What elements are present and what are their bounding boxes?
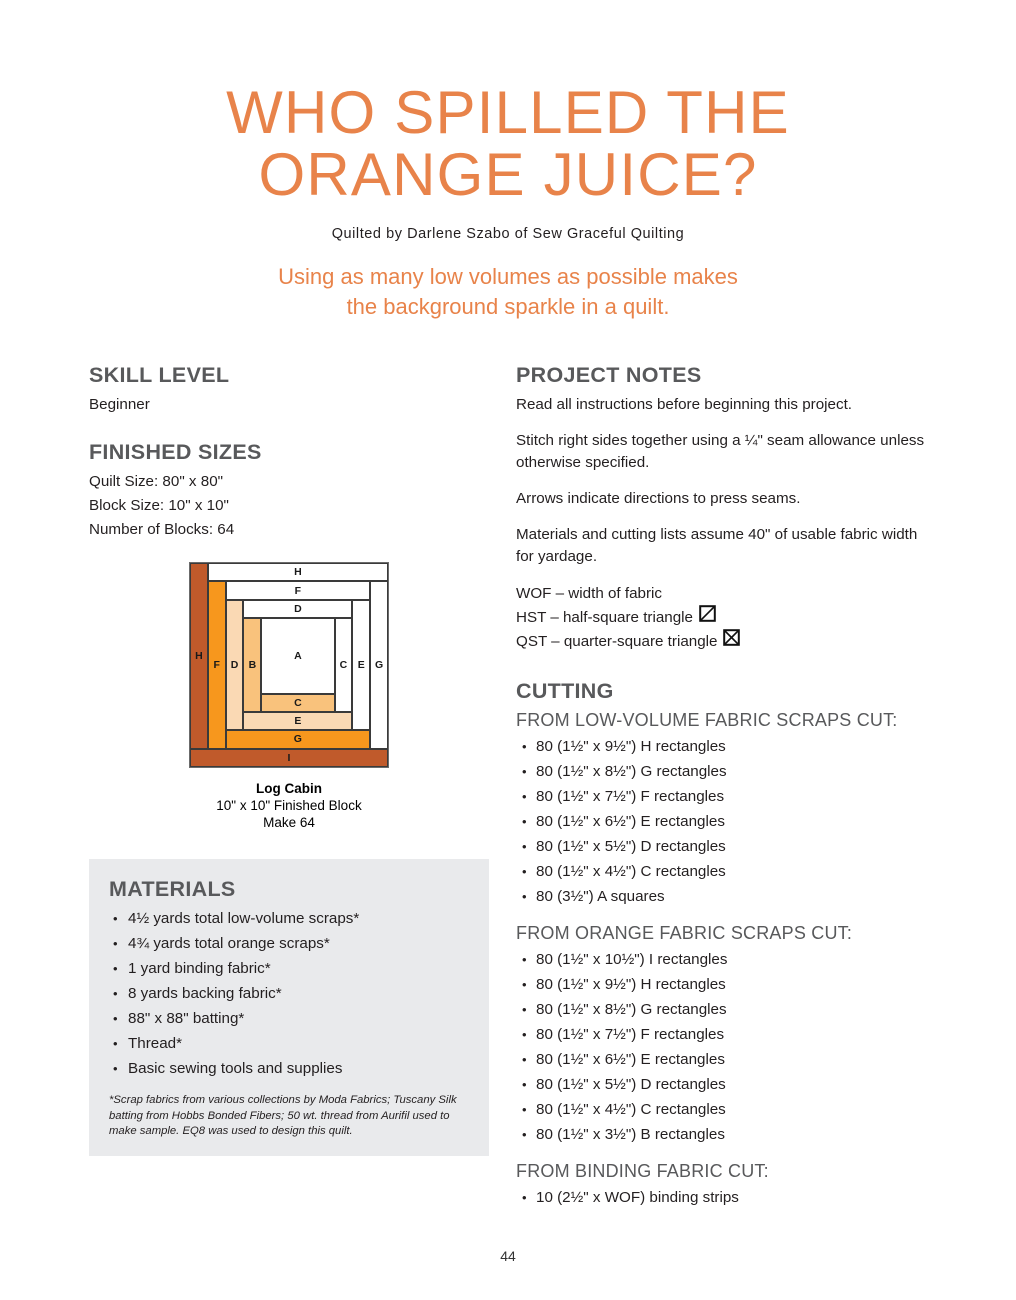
diagram-caption-size: 10" x 10" Finished Block: [89, 797, 489, 814]
project-note-2: Stitch right sides together using a ¼" s…: [516, 430, 934, 474]
block-piece-G: G: [226, 730, 371, 748]
project-notes-heading: PROJECT NOTES: [516, 363, 934, 388]
diagram-caption: Log Cabin 10" x 10" Finished Block Make …: [89, 780, 489, 831]
cutting-group-list: 80 (1½" x 9½") H rectangles80 (1½" x 8½"…: [516, 734, 934, 909]
qst-square-icon: [723, 629, 740, 653]
materials-item: 8 yards backing fabric*: [109, 981, 469, 1006]
skill-level-value: Beginner: [89, 394, 489, 415]
cutting-group-heading: FROM BINDING FABRIC CUT:: [516, 1161, 934, 1182]
block-size: Block Size: 10" x 10": [89, 495, 489, 516]
number-of-blocks: Number of Blocks: 64: [89, 519, 489, 540]
cutting-item: 10 (2½" x WOF) binding strips: [516, 1185, 934, 1210]
page-number: 44: [0, 1248, 1016, 1264]
cutting-item: 80 (1½" x 6½") E rectangles: [516, 809, 934, 834]
materials-item: Thread*: [109, 1031, 469, 1056]
cutting-heading: CUTTING: [516, 679, 934, 704]
block-piece-E: E: [352, 600, 370, 731]
tagline-line-2: the background sparkle in a quilt.: [0, 292, 1016, 322]
block-diagram-wrap: HIFGDEBCAHGFEDC Log Cabin 10" x 10" Fini…: [89, 562, 489, 831]
cutting-item: 80 (1½" x 7½") F rectangles: [516, 784, 934, 809]
abbr-qst-text: QST – quarter-square triangle: [516, 630, 717, 653]
title-line-1: WHO SPILLED THE: [0, 82, 1016, 144]
block-piece-B: B: [243, 618, 261, 712]
cutting-item: 80 (1½" x 8½") G rectangles: [516, 997, 934, 1022]
materials-item: 88" x 88" batting*: [109, 1006, 469, 1031]
cutting-group-list: 80 (1½" x 10½") I rectangles80 (1½" x 9½…: [516, 947, 934, 1147]
block-piece-C: C: [335, 618, 353, 712]
title-block: WHO SPILLED THE ORANGE JUICE? Quilted by…: [0, 0, 1016, 322]
materials-box: MATERIALS 4½ yards total low-volume scra…: [89, 859, 489, 1156]
block-piece-C: C: [261, 694, 334, 712]
block-piece-D: D: [243, 600, 352, 618]
title-line-2: ORANGE JUICE?: [0, 144, 1016, 206]
cutting-item: 80 (1½" x 10½") I rectangles: [516, 947, 934, 972]
cutting-item: 80 (1½" x 6½") E rectangles: [516, 1047, 934, 1072]
cutting-item: 80 (1½" x 5½") D rectangles: [516, 1072, 934, 1097]
materials-item: Basic sewing tools and supplies: [109, 1056, 469, 1081]
block-piece-F: F: [208, 581, 226, 748]
cutting-item: 80 (1½" x 9½") H rectangles: [516, 734, 934, 759]
cutting-item: 80 (1½" x 8½") G rectangles: [516, 759, 934, 784]
project-note-1: Read all instructions before beginning t…: [516, 394, 934, 416]
project-note-3: Arrows indicate directions to press seam…: [516, 488, 934, 510]
cutting-item: 80 (1½" x 5½") D rectangles: [516, 834, 934, 859]
block-piece-I: I: [190, 749, 388, 767]
cutting-item: 80 (3½") A squares: [516, 884, 934, 909]
skill-level-heading: SKILL LEVEL: [89, 363, 489, 388]
hst-square-icon: [699, 605, 716, 629]
abbr-hst: HST – half-square triangle: [516, 605, 934, 629]
cutting-group-heading: FROM LOW-VOLUME FABRIC SCRAPS CUT:: [516, 710, 934, 731]
cutting-item: 80 (1½" x 3½") B rectangles: [516, 1122, 934, 1147]
abbr-hst-text: HST – half-square triangle: [516, 606, 693, 629]
materials-heading: MATERIALS: [109, 877, 469, 902]
block-piece-H: H: [190, 563, 208, 749]
abbr-wof: WOF – width of fabric: [516, 582, 934, 605]
cutting-groups: FROM LOW-VOLUME FABRIC SCRAPS CUT:80 (1½…: [516, 710, 934, 1210]
block-piece-D: D: [226, 600, 244, 731]
abbr-qst: QST – quarter-square triangle: [516, 629, 934, 653]
diagram-caption-make: Make 64: [89, 814, 489, 831]
cutting-item: 80 (1½" x 4½") C rectangles: [516, 859, 934, 884]
quilter-credit: Quilted by Darlene Szabo of Sew Graceful…: [0, 226, 1016, 242]
pattern-page: WHO SPILLED THE ORANGE JUICE? Quilted by…: [0, 0, 1016, 1300]
block-piece-E: E: [243, 712, 352, 730]
spacer: [89, 418, 489, 440]
right-column: PROJECT NOTES Read all instructions befo…: [516, 363, 934, 1210]
materials-list: 4½ yards total low-volume scraps*4¾ yard…: [109, 906, 469, 1081]
abbr-wof-text: WOF – width of fabric: [516, 582, 662, 605]
left-column: SKILL LEVEL Beginner FINISHED SIZES Quil…: [89, 363, 489, 1156]
cutting-item: 80 (1½" x 7½") F rectangles: [516, 1022, 934, 1047]
block-piece-H: H: [208, 563, 388, 581]
materials-item: 4¾ yards total orange scraps*: [109, 931, 469, 956]
tagline: Using as many low volumes as possible ma…: [0, 262, 1016, 322]
materials-item: 4½ yards total low-volume scraps*: [109, 906, 469, 931]
cutting-group-list: 10 (2½" x WOF) binding strips: [516, 1185, 934, 1210]
tagline-line-1: Using as many low volumes as possible ma…: [0, 262, 1016, 292]
cutting-item: 80 (1½" x 4½") C rectangles: [516, 1097, 934, 1122]
project-note-4: Materials and cutting lists assume 40" o…: [516, 524, 934, 568]
block-piece-F: F: [226, 581, 371, 599]
log-cabin-block-diagram: HIFGDEBCAHGFEDC: [189, 562, 389, 768]
diagram-caption-name: Log Cabin: [89, 780, 489, 797]
cutting-item: 80 (1½" x 9½") H rectangles: [516, 972, 934, 997]
block-piece-A: A: [261, 618, 334, 693]
materials-footnote: *Scrap fabrics from various collections …: [109, 1093, 469, 1140]
block-piece-G: G: [370, 581, 388, 748]
quilt-size: Quilt Size: 80" x 80": [89, 471, 489, 492]
finished-sizes-heading: FINISHED SIZES: [89, 440, 489, 465]
materials-item: 1 yard binding fabric*: [109, 956, 469, 981]
cutting-group-heading: FROM ORANGE FABRIC SCRAPS CUT:: [516, 923, 934, 944]
